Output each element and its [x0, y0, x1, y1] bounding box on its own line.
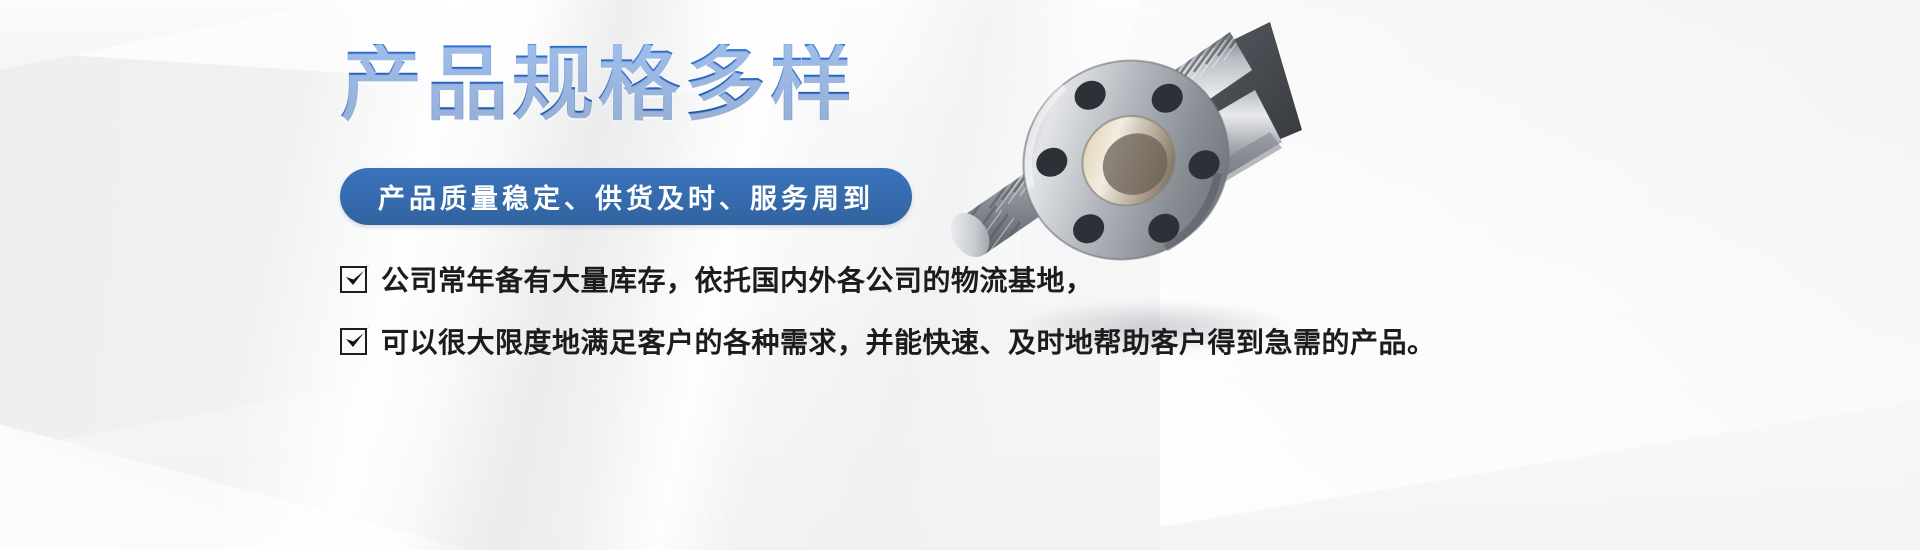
list-item-label: 可以很大限度地满足客户的各种需求，并能快速、及时地帮助客户得到急需的产品。: [381, 321, 1436, 361]
banner-content: 产品规格多样 产品质量稳定、供货及时、服务周到 公司常年备有大量库存，依托国内外…: [340, 44, 1340, 383]
promo-banner: 产品规格多样 产品质量稳定、供货及时、服务周到 公司常年备有大量库存，依托国内外…: [0, 0, 1920, 550]
checkbox-checked-icon: [340, 328, 367, 355]
page-title: 产品规格多样: [340, 44, 1340, 126]
list-item: 可以很大限度地满足客户的各种需求，并能快速、及时地帮助客户得到急需的产品。: [340, 321, 1340, 361]
list-item-label: 公司常年备有大量库存，依托国内外各公司的物流基地，: [381, 259, 1094, 299]
bg-facet-top-left: [0, 0, 340, 70]
tagline-text: 产品质量稳定、供货及时、服务周到: [378, 177, 874, 216]
list-item: 公司常年备有大量库存，依托国内外各公司的物流基地，: [340, 259, 1340, 299]
tagline-badge: 产品质量稳定、供货及时、服务周到: [340, 168, 912, 225]
feature-list: 公司常年备有大量库存，依托国内外各公司的物流基地， 可以很大限度地满足客户的各种…: [340, 259, 1340, 361]
checkbox-checked-icon: [340, 266, 367, 293]
